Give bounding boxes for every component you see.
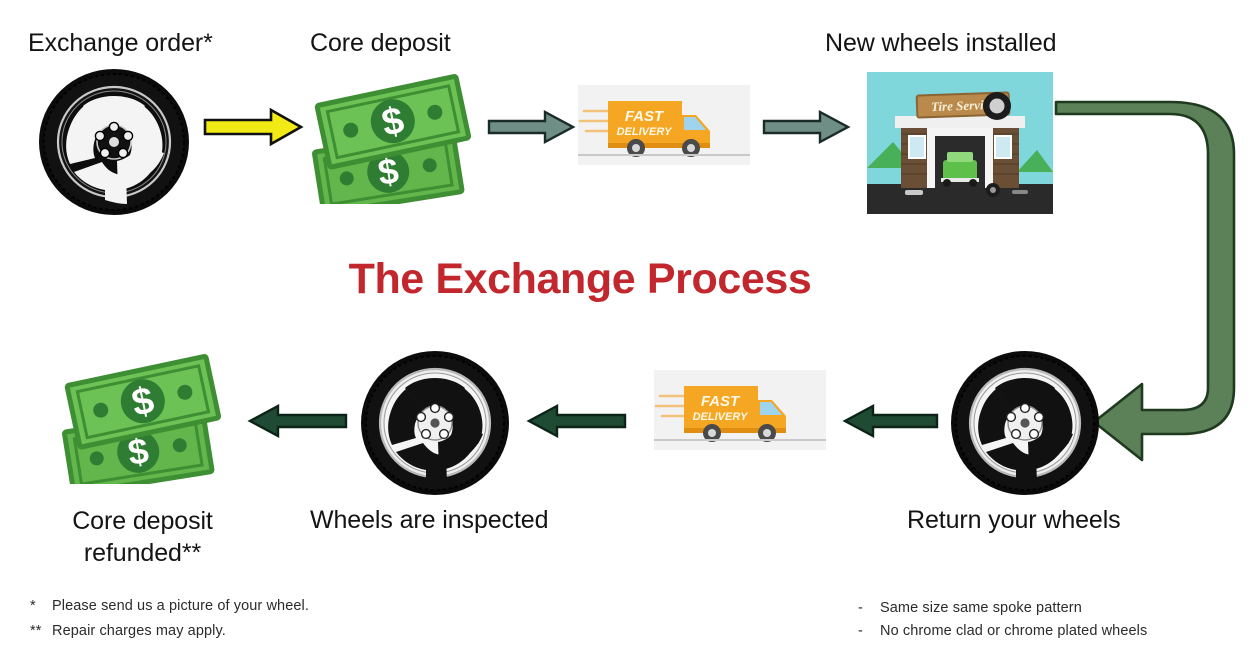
footnote-marker: - [858,600,880,616]
tire-service-shop-icon: Tire Service [867,72,1053,214]
footnote-marker: * [30,598,52,614]
wheel-dark-icon [38,68,190,216]
footnote-marker: - [858,623,880,639]
footnote-text: Same size same spoke pattern [880,600,1082,616]
arrow-deposit-to-shipping [487,110,575,144]
footnote-text: Please send us a picture of your wheel. [52,598,309,614]
arrow-return-to-shipping-back [843,404,939,438]
svg-text:FAST: FAST [701,393,741,410]
footnote-text: Repair charges may apply. [52,623,226,639]
arrow-shipping-to-install [762,110,850,144]
footnote-left-1: *Please send us a picture of your wheel. [30,598,309,614]
money-icon-core-deposit: $ $ [308,72,480,204]
step-label-new-wheels-installed: New wheels installed [825,28,1056,58]
step-label-wheels-are-inspected: Wheels are inspected [310,505,548,535]
money-icon-refund: $ $ [58,352,230,484]
svg-text:DELIVERY: DELIVERY [693,411,749,423]
footnote-marker: ** [30,623,52,639]
svg-text:FAST: FAST [625,108,665,125]
arrow-shipping-back-to-inspection [527,404,627,438]
step-label-core-deposit: Core deposit [310,28,451,58]
footnote-left-2: **Repair charges may apply. [30,623,226,639]
wheel-silver-icon-inspected [360,350,510,496]
delivery-truck-icon-outbound: FAST DELIVERY [578,85,750,165]
delivery-truck-icon-inbound: FAST DELIVERY [654,370,826,450]
page-title: The Exchange Process [0,255,1160,304]
exchange-process-diagram: Exchange order* Core deposit New wheels … [0,0,1250,666]
step-label-return-your-wheels: Return your wheels [907,505,1121,535]
footnote-right-1: -Same size same spoke pattern [858,600,1082,616]
arrow-inspection-to-refund [248,404,348,438]
arrow-exchange-to-deposit [203,108,303,146]
footnote-right-2: -No chrome clad or chrome plated wheels [858,623,1147,639]
footnote-text: No chrome clad or chrome plated wheels [880,623,1147,639]
step-label-exchange-order: Exchange order* [28,28,213,58]
svg-text:DELIVERY: DELIVERY [617,126,673,138]
step-label-core-deposit-refunded: Core deposit refunded** [30,505,255,569]
wheel-silver-icon-return [950,350,1100,496]
